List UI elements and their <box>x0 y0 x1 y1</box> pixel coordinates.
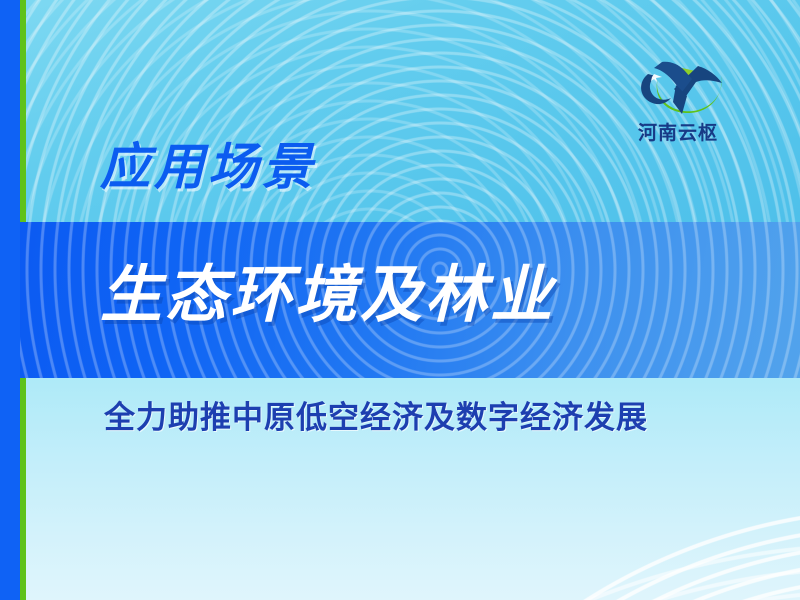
page-subtitle: 全力助推中原低空经济及数字经济发展 <box>104 402 648 433</box>
bird-swoosh-logo-icon <box>624 52 732 118</box>
brand-logo: 河南云枢 <box>624 52 732 147</box>
bottom-arcs-decoration-icon <box>300 496 800 600</box>
page-title: 生态环境及林业 <box>100 265 555 327</box>
eyebrow-label: 应用场景 <box>100 142 316 192</box>
bottom-arcs-outer-decoration-icon <box>120 543 800 600</box>
left-green-rail-top <box>20 0 26 222</box>
brand-name: 河南云枢 <box>624 118 732 145</box>
left-blue-rail <box>0 0 20 600</box>
left-green-rail-bottom <box>20 378 26 600</box>
application-scenario-poster: 应用场景 生态环境及林业 全力助推中原低空经济及数字经济发展 河南云枢 <box>0 0 800 600</box>
